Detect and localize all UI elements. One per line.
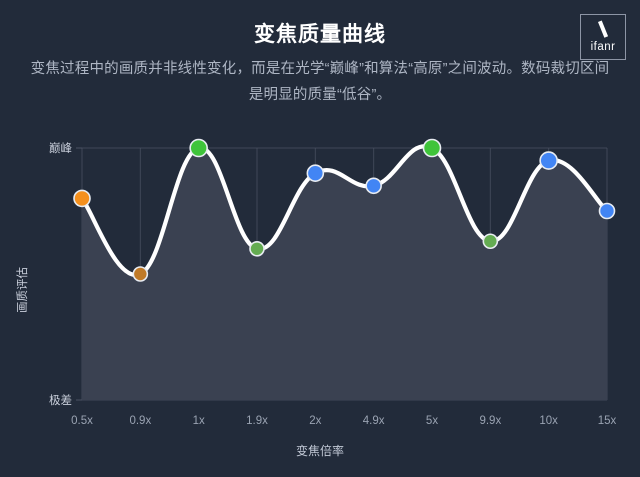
x-tick-label: 4.9x (363, 415, 385, 427)
data-point-marker[interactable] (600, 204, 615, 219)
x-tick-label: 2x (309, 415, 321, 427)
x-axis-title: 变焦倍率 (296, 443, 344, 458)
y-tick-label: 极差 (49, 393, 72, 407)
data-point-marker[interactable] (250, 242, 264, 256)
data-point-marker[interactable] (307, 165, 323, 181)
x-tick-label: 1.9x (246, 415, 268, 427)
y-axis-title: 画质评估 (16, 267, 29, 313)
x-tick-label: 1x (193, 415, 205, 427)
x-tick-label: 15x (598, 415, 617, 427)
data-point-marker[interactable] (366, 178, 381, 193)
x-tick-label: 5x (426, 415, 438, 427)
data-point-marker[interactable] (190, 140, 207, 157)
data-point-marker[interactable] (74, 190, 90, 206)
x-tick-label: 0.9x (129, 415, 151, 427)
y-axis-tick-labels: 巅峰极差 (49, 142, 82, 407)
data-point-marker[interactable] (133, 267, 147, 281)
data-point-marker[interactable] (424, 140, 441, 157)
x-tick-label: 0.5x (71, 415, 93, 427)
x-axis-tick-labels: 0.5x0.9x1x1.9x2x4.9x5x9.9x10x15x (71, 415, 616, 427)
data-point-marker[interactable] (540, 152, 557, 169)
x-tick-label: 10x (539, 415, 558, 427)
data-point-marker[interactable] (483, 234, 497, 248)
zoom-quality-line-chart: 0.5x0.9x1x1.9x2x4.9x5x9.9x10x15x 巅峰极差 变焦… (0, 0, 640, 477)
x-tick-label: 9.9x (479, 415, 501, 427)
y-tick-label: 巅峰 (49, 142, 72, 155)
chart-page: 变焦质量曲线 变焦过程中的画质并非线性变化，而是在光学“巅峰”和算法“高原”之间… (0, 0, 640, 477)
